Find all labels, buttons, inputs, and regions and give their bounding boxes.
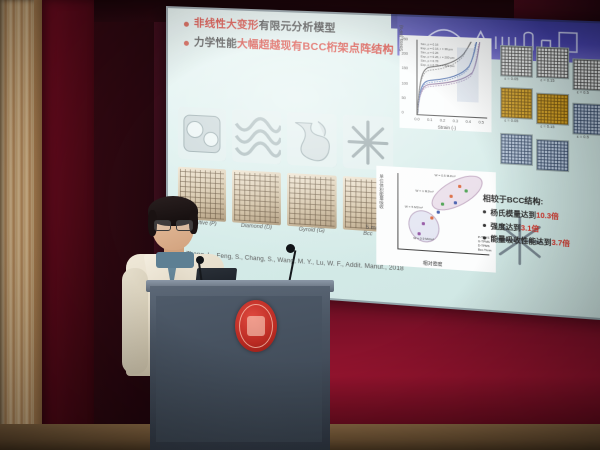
wood-slat-panel (0, 0, 34, 450)
curtain-left (42, 0, 94, 450)
university-crest-emblem (235, 300, 277, 352)
lecture-hall-scene: 非线性大变形有限元分析模型 力学性能大幅超越现有BCC桁架点阵结构 (0, 0, 600, 450)
microphone-head-right (286, 244, 295, 253)
wood-panel-edge (34, 0, 42, 450)
glasses-lens-left (154, 220, 171, 231)
glasses-lens-right (176, 220, 193, 231)
presenter-arm-left (122, 268, 148, 374)
microphone-head-left (196, 256, 204, 264)
emblem-center-mark (247, 316, 265, 336)
presenter-collar (156, 252, 194, 268)
presenter-glasses (154, 220, 194, 229)
